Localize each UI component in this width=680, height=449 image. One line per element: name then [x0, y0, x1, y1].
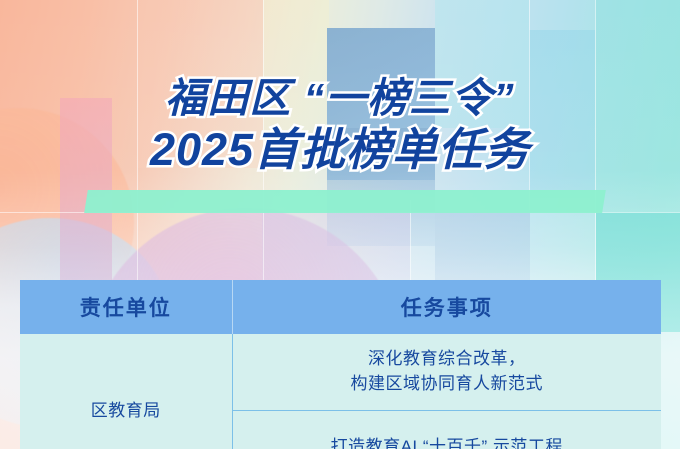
- column-header-task: 任务事项: [232, 280, 661, 334]
- column-header-unit: 责任单位: [20, 280, 232, 334]
- cell-task-item: 打造教育AI “十百千” 示范工程: [232, 411, 661, 449]
- task-text-line-1: 深化教育综合改革，: [368, 349, 526, 368]
- task-table: 责任单位 任务事项 区教育局 深化教育综合改革， 构建区域协同育人新范式 打造教…: [20, 280, 661, 449]
- page-title: 福田区 “一榜三令” 2025首批榜单任务: [0, 78, 680, 172]
- task-table-container: 责任单位 任务事项 区教育局 深化教育综合改革， 构建区域协同育人新范式 打造教…: [20, 280, 661, 449]
- table-header-row: 责任单位 任务事项: [20, 280, 661, 334]
- task-table-head: 责任单位 任务事项: [20, 280, 661, 334]
- title-line-2: 2025首批榜单任务: [0, 127, 680, 172]
- poster-canvas: 福田区 “一榜三令” 2025首批榜单任务 责任单位 任务事项 区教育局 深化教…: [0, 0, 680, 449]
- table-row: 区教育局 深化教育综合改革， 构建区域协同育人新范式: [20, 334, 661, 411]
- cell-task-item: 深化教育综合改革， 构建区域协同育人新范式: [232, 334, 661, 411]
- task-table-body: 区教育局 深化教育综合改革， 构建区域协同育人新范式 打造教育AI “十百千” …: [20, 334, 661, 449]
- title-line-1: 福田区 “一榜三令”: [0, 78, 680, 119]
- task-text-line-2: 构建区域协同育人新范式: [243, 372, 652, 397]
- cell-responsible-unit: 区教育局: [20, 334, 232, 449]
- title-highlight-band: [84, 190, 606, 213]
